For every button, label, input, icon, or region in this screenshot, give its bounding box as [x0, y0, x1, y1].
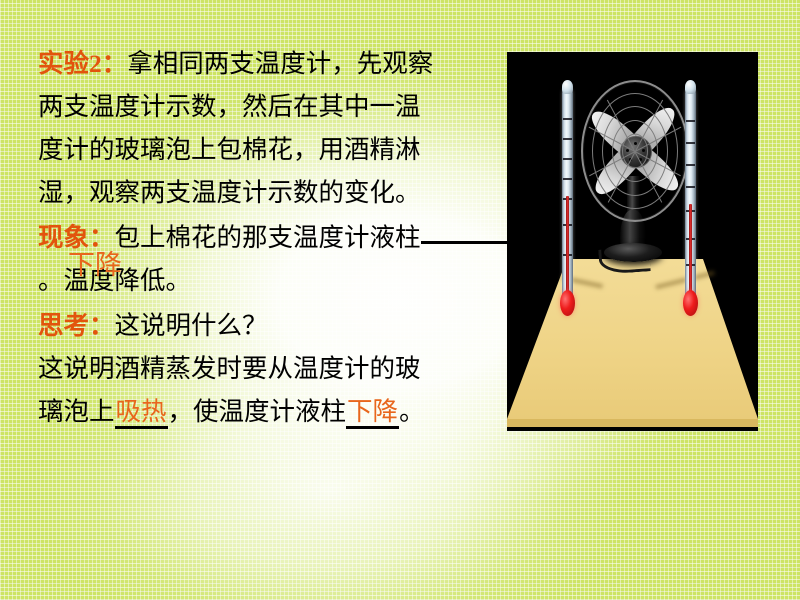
thinking-answer-end: 。	[399, 397, 425, 426]
thinking-question-line: 思考：这说明什么？	[38, 304, 508, 347]
fan-base	[604, 243, 662, 262]
experiment-body-line-1: 拿相同两支温度计，先观察	[127, 49, 433, 78]
thinking-fill-2: 下降	[346, 397, 399, 429]
thermometer-right-cap	[685, 80, 696, 94]
thermometer-right	[685, 88, 696, 310]
thinking-fill-1: 吸热	[115, 397, 168, 429]
thermometer-right-bulb	[683, 290, 698, 316]
experiment-body-line-4: 湿，观察两支温度计示数的变化。	[38, 171, 508, 214]
phenomenon-label: 现象：	[38, 223, 115, 252]
thinking-label: 思考：	[38, 311, 115, 340]
phenomenon-floating-answer: 下降	[68, 252, 122, 279]
thinking-answer-prefix: 璃泡上	[38, 397, 115, 426]
table-surface	[507, 259, 758, 431]
experiment-label: 实验2：	[38, 49, 127, 78]
thinking-block: 思考：这说明什么？ 这说明酒精蒸发时要从温度计的玻 璃泡上吸热，使温度计液柱下降…	[38, 304, 508, 433]
text-column: 实验2：拿相同两支温度计，先观察 两支温度计示数，然后在其中一温 度计的玻璃泡上…	[38, 42, 508, 433]
thinking-answer-line-2: 璃泡上吸热，使温度计液柱下降。	[38, 390, 508, 433]
thermometer-left	[562, 88, 573, 310]
thinking-answer-line-1: 这说明酒精蒸发时要从温度计的玻	[38, 347, 508, 390]
fan-cage	[581, 80, 689, 222]
experiment-body-line-3: 度计的玻璃泡上包棉花，用酒精淋	[38, 128, 508, 171]
experiment-block: 实验2：拿相同两支温度计，先观察 两支温度计示数，然后在其中一温 度计的玻璃泡上…	[38, 42, 508, 214]
experiment-body-line-2: 两支温度计示数，然后在其中一温	[38, 85, 508, 128]
experiment-photo	[507, 52, 758, 431]
thermometer-right-column	[689, 204, 692, 300]
phenomenon-text: 包上棉花的那支温度计液柱	[115, 223, 421, 252]
thinking-question: 这说明什么？	[115, 311, 268, 340]
slide-canvas: 实验2：拿相同两支温度计，先观察 两支温度计示数，然后在其中一温 度计的玻璃泡上…	[0, 0, 800, 600]
thermometer-left-bulb	[560, 290, 575, 316]
thinking-answer-middle: ，使温度计液柱	[168, 397, 347, 426]
electric-fan	[581, 80, 685, 276]
thermometer-left-cap	[562, 80, 573, 94]
experiment-first-line: 实验2：拿相同两支温度计，先观察	[38, 42, 508, 85]
phenomenon-blank	[421, 241, 509, 244]
thermometer-left-column	[566, 196, 569, 300]
